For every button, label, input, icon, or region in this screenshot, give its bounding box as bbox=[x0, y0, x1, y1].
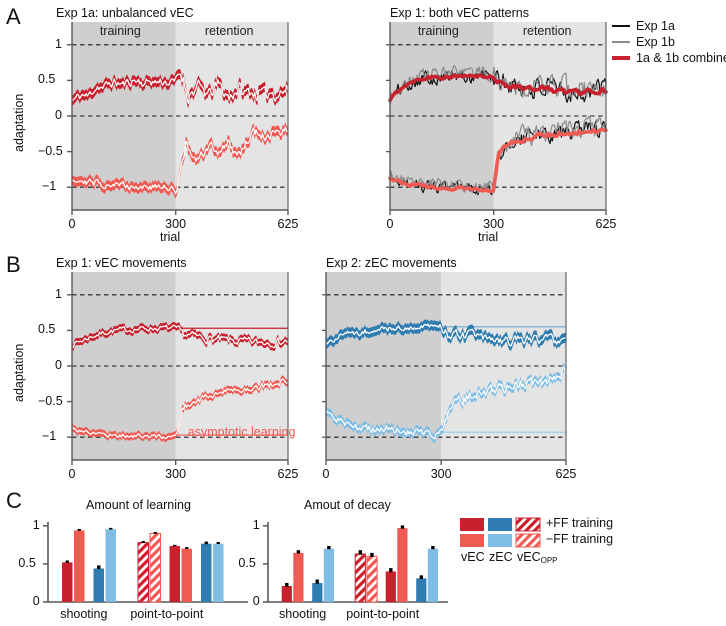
bar bbox=[386, 572, 396, 603]
y-tick-label: 0.5 bbox=[38, 322, 55, 336]
phase-label-retention: retention bbox=[205, 24, 254, 38]
y-tick-label: 0 bbox=[55, 358, 62, 372]
legend-swatch bbox=[488, 534, 512, 547]
panelB-left-title: Exp 1: vEC movements bbox=[56, 256, 187, 270]
bar bbox=[62, 562, 73, 602]
legend-swatch bbox=[516, 534, 540, 547]
bar-y-tick-label: 1 bbox=[33, 518, 40, 532]
bar bbox=[416, 578, 426, 602]
x-tick-label: 0 bbox=[69, 217, 76, 231]
bar bbox=[150, 533, 161, 602]
legend-swatch-line bbox=[612, 41, 630, 42]
legend-label: Exp 1b bbox=[636, 35, 675, 49]
legend-col-label-sub: OPP bbox=[541, 556, 558, 565]
y-tick-label: 1 bbox=[55, 37, 62, 51]
bar-y-tick-label: 0.5 bbox=[18, 556, 35, 570]
legend-swatch bbox=[516, 518, 540, 531]
bar bbox=[74, 530, 85, 602]
phase-label-training: training bbox=[100, 24, 141, 38]
y-tick-label: −1 bbox=[42, 429, 56, 443]
legend-row-label: −FF training bbox=[546, 532, 613, 546]
panelC-learning-chart bbox=[48, 522, 248, 602]
bar-y-tick-label: 0.5 bbox=[238, 556, 255, 570]
legend-label: 1a & 1b combined bbox=[636, 51, 726, 65]
x-tick-label: 625 bbox=[596, 217, 617, 231]
panelC-legend bbox=[460, 518, 544, 549]
x-tick-label: 300 bbox=[483, 217, 504, 231]
legend-col-label: vEC bbox=[461, 550, 485, 564]
panelB-ylabel: adaptation bbox=[12, 344, 26, 402]
panel-letter-c: C bbox=[6, 488, 22, 514]
bar bbox=[138, 543, 149, 602]
x-tick-label: 625 bbox=[278, 467, 299, 481]
x-tick-label: 625 bbox=[278, 217, 299, 231]
phase-label-retention: retention bbox=[523, 24, 572, 38]
y-tick-label: 0 bbox=[55, 108, 62, 122]
bar-group-label: shooting bbox=[60, 607, 107, 621]
bar bbox=[282, 586, 292, 602]
legend-item[interactable]: Exp 1a bbox=[612, 18, 726, 34]
x-tick-label: 0 bbox=[69, 467, 76, 481]
y-tick-label: −0.5 bbox=[38, 144, 63, 158]
bar bbox=[428, 549, 438, 602]
bar bbox=[201, 544, 212, 602]
legend-row-label: +FF training bbox=[546, 516, 613, 530]
x-tick-label: 0 bbox=[323, 467, 330, 481]
panelA-right-title: Exp 1: both vEC patterns bbox=[390, 6, 529, 20]
panelA-left-xlabel: trial bbox=[160, 230, 180, 244]
bar bbox=[106, 529, 117, 602]
bar bbox=[293, 553, 303, 602]
bar-y-tick-label: 0 bbox=[253, 594, 260, 608]
panelC-decay-chart bbox=[268, 522, 448, 602]
bar-group-label: shooting bbox=[279, 607, 326, 621]
panel-letter-a: A bbox=[6, 4, 21, 30]
panelC-chart0-title: Amount of learning bbox=[86, 498, 191, 512]
bar-group-label: point-to-point bbox=[346, 607, 419, 621]
y-tick-label: 0.5 bbox=[38, 72, 55, 86]
panelA-right-xlabel: trial bbox=[478, 230, 498, 244]
legend-col-label: zEC bbox=[489, 550, 513, 564]
legend-swatch bbox=[488, 518, 512, 531]
panelA-left-title: Exp 1a: unbalanced vEC bbox=[56, 6, 194, 20]
x-tick-label: 300 bbox=[165, 217, 186, 231]
asymptotic-learning-annotation: asymptotic learning bbox=[188, 425, 296, 439]
y-tick-label: −1 bbox=[42, 179, 56, 193]
bar bbox=[170, 546, 181, 602]
legend-label: Exp 1a bbox=[636, 19, 675, 33]
legend-swatch bbox=[460, 518, 484, 531]
panelC-chart1-title: Amout of decay bbox=[304, 498, 391, 512]
panelA-right-plot bbox=[390, 22, 606, 210]
x-tick-label: 625 bbox=[556, 467, 577, 481]
bar-y-tick-label: 1 bbox=[253, 518, 260, 532]
panelB-right-title: Exp 2: zEC movements bbox=[326, 256, 457, 270]
bar bbox=[355, 554, 365, 602]
x-tick-label: 300 bbox=[165, 467, 186, 481]
y-tick-label: −0.5 bbox=[38, 394, 63, 408]
legend-item[interactable]: 1a & 1b combined bbox=[612, 50, 726, 66]
legend-item[interactable]: Exp 1b bbox=[612, 34, 726, 50]
x-tick-label: 300 bbox=[431, 467, 452, 481]
bar-group-label: point-to-point bbox=[130, 607, 203, 621]
bar bbox=[397, 528, 407, 602]
bar bbox=[213, 544, 224, 602]
panelB-right-plot bbox=[326, 272, 566, 460]
bar bbox=[324, 549, 334, 602]
bar bbox=[182, 549, 193, 602]
panelA-ylabel: adaptation bbox=[12, 94, 26, 152]
legend-swatch-line bbox=[612, 25, 630, 26]
bar bbox=[312, 583, 322, 602]
legend-swatch bbox=[460, 534, 484, 547]
x-tick-label: 0 bbox=[387, 217, 394, 231]
bar-y-tick-label: 0 bbox=[33, 594, 40, 608]
legend-swatch-line bbox=[612, 56, 630, 60]
y-tick-label: 1 bbox=[55, 287, 62, 301]
panelA-left-plot bbox=[72, 22, 288, 210]
bar bbox=[367, 556, 377, 602]
legend-col-label-vec-opp: vECOPP bbox=[517, 550, 558, 565]
legend-col-label-text: vEC bbox=[517, 550, 541, 564]
panel-letter-b: B bbox=[6, 252, 21, 278]
phase-label-training: training bbox=[418, 24, 459, 38]
bar bbox=[94, 569, 105, 603]
panelA-legend: Exp 1aExp 1b1a & 1b combined bbox=[612, 18, 726, 66]
